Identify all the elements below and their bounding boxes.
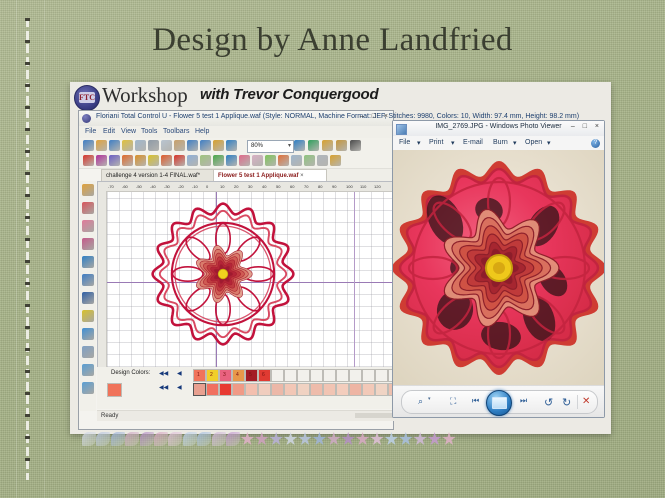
star-stitch-sample	[370, 432, 384, 446]
node-icon[interactable]	[213, 155, 224, 166]
undo-icon[interactable]	[187, 140, 198, 151]
chevron-down-icon[interactable]: ▾	[417, 139, 421, 147]
outline-color-icon[interactable]	[135, 155, 146, 166]
group-icon[interactable]	[304, 155, 315, 166]
swirl-stitch-sample	[183, 432, 197, 446]
realistic-view-icon[interactable]	[322, 140, 333, 151]
photo-viewer-title-bar: IMG_2769.JPG - Windows Photo Viewer – □ …	[393, 121, 604, 137]
ruler-tick: -40	[150, 184, 156, 189]
design-color-slot-empty[interactable]	[375, 369, 388, 382]
thread-color-swatch[interactable]	[375, 383, 388, 396]
menu-help[interactable]: Help	[195, 128, 209, 135]
swirl-stitch-sample	[111, 432, 125, 446]
swirl-stitch-sample	[96, 432, 110, 446]
swatch-index: 3	[223, 372, 226, 378]
lasso-tool[interactable]	[82, 238, 94, 250]
photo-image	[393, 150, 604, 386]
color-wheel-icon[interactable]	[308, 140, 319, 151]
ruler-tick: -50	[136, 184, 142, 189]
pencil-icon[interactable]	[148, 155, 159, 166]
stamp-tool[interactable]	[82, 364, 94, 376]
design-color-swatch[interactable]: 4	[232, 369, 245, 382]
image-tool[interactable]	[82, 328, 94, 340]
thread-color-swatch[interactable]	[297, 383, 310, 396]
ftcu-title-bar: Floriani Total Control U - Flower 5 test…	[79, 111, 393, 127]
swatch-index: 1	[197, 372, 200, 378]
ruler-tick: -20	[178, 184, 184, 189]
hand-pan-tool[interactable]	[82, 256, 94, 268]
help-icon[interactable]: ?	[591, 139, 600, 148]
swatch-index: 4	[236, 372, 239, 378]
ruler-tick: 120	[374, 184, 381, 189]
design-color-swatch[interactable]: 5	[245, 369, 258, 382]
color-prev-button[interactable]: ◀	[177, 370, 182, 377]
thread-color-swatch[interactable]	[349, 383, 362, 396]
stitch-sample-strip	[78, 430, 458, 448]
slideshow-glyph	[492, 397, 507, 409]
ftcu-app-icon	[82, 114, 91, 123]
menu-file[interactable]: File	[85, 128, 96, 135]
star-stitch-sample	[399, 432, 413, 446]
slide-background: Design by Anne Landfried FTC Workshop wi…	[0, 0, 665, 498]
ruler-tick: -60	[122, 184, 128, 189]
ftcu-toolbar-row-1: 80% ▾	[79, 138, 393, 154]
fill-color-icon[interactable]	[122, 155, 133, 166]
thread-color-swatch[interactable]	[193, 383, 206, 396]
swatch-index: 5	[249, 372, 252, 378]
tool-palette	[80, 181, 96, 411]
ruler-measure-tool[interactable]	[82, 274, 94, 286]
zoom-magnifier-button[interactable]: ⌕	[418, 396, 423, 407]
text-tool-icon[interactable]	[83, 155, 94, 166]
design-colors-panel: Design Colors: ◀◀ ◀ 123456 ◀◀ ◀	[97, 367, 393, 409]
zoom-level-value: 80%	[251, 143, 263, 149]
ftcu-window-buttons[interactable]: – □ ×	[360, 113, 391, 120]
ruler-tick: 90	[332, 184, 336, 189]
photo-viewer-window: IMG_2769.JPG - Windows Photo Viewer – □ …	[392, 120, 605, 418]
star-stitch-sample	[240, 432, 254, 446]
design-color-slot-empty[interactable]	[362, 369, 375, 382]
palette-prev-button[interactable]: ◀	[177, 384, 182, 391]
previous-image-button[interactable]: ⏮	[472, 396, 479, 406]
flower-design-vector[interactable]	[143, 194, 303, 354]
design-colors-label: Design Colors:	[111, 370, 150, 376]
horizontal-ruler: -70-60-50-40-30-20-100102030405060708090…	[98, 182, 394, 192]
screenshot-composite: FTC Workshop with Trevor Conquergood Flo…	[70, 82, 611, 434]
paste-icon[interactable]	[174, 140, 185, 151]
rotate-right-button[interactable]: ↻	[562, 396, 571, 409]
design-color-swatch[interactable]: 1	[193, 369, 206, 382]
fabric-seam-left	[16, 0, 17, 498]
star-stitch-sample	[269, 432, 283, 446]
chevron-down-icon[interactable]: ▾	[451, 139, 455, 147]
design-color-slot-empty[interactable]	[349, 369, 362, 382]
star-stitch-sample	[298, 432, 312, 446]
ftcu-window: Floriani Total Control U - Flower 5 test…	[78, 110, 394, 430]
swatch-index: 6	[262, 372, 265, 378]
ruler-tick: 70	[304, 184, 308, 189]
ruler-tick: 20	[234, 184, 238, 189]
workshop-label: Workshop	[102, 83, 188, 108]
star-stitch-sample	[428, 432, 442, 446]
cut-icon[interactable]	[148, 140, 159, 151]
swatch-index: 2	[210, 372, 213, 378]
redo-icon[interactable]	[200, 140, 211, 151]
fabric-seam-right	[44, 0, 45, 498]
wpv-menu-open[interactable]: Open	[525, 139, 542, 146]
star-stitch-sample	[341, 432, 355, 446]
flower-motif-icon[interactable]	[174, 155, 185, 166]
monogram-icon[interactable]	[96, 155, 107, 166]
duplicate-icon[interactable]	[291, 155, 302, 166]
design-color-slot-empty[interactable]	[310, 369, 323, 382]
stitch-knots	[25, 18, 30, 480]
swirl-stitch-sample	[197, 432, 211, 446]
tab-close-icon[interactable]: ×	[300, 173, 304, 179]
thread-color-swatch[interactable]	[310, 383, 323, 396]
star-stitch-sample	[442, 432, 456, 446]
divider	[577, 395, 578, 409]
tab-label: Flower 5 test 1 Applique.waf	[218, 173, 298, 179]
rotate-left-button[interactable]: ↺	[544, 396, 553, 409]
thread-color-swatch[interactable]	[336, 383, 349, 396]
status-scrollbar[interactable]	[355, 413, 395, 418]
swirl-stitch-sample	[168, 432, 182, 446]
play-slideshow-button[interactable]	[486, 390, 512, 416]
font-manager-icon[interactable]	[109, 155, 120, 166]
fit-to-window-button[interactable]: ⛶	[450, 396, 456, 407]
ruler-tick: -70	[108, 184, 114, 189]
thread-color-swatch[interactable]	[206, 383, 219, 396]
pencil-draw-tool[interactable]	[82, 310, 94, 322]
star-stitch-sample	[284, 432, 298, 446]
ruler-tick: 0	[206, 184, 208, 189]
document-tab-bar: challenge 4 version 1-4 FINAL.waf* Flowe…	[101, 169, 393, 181]
chevron-down-icon[interactable]: ▾	[547, 139, 551, 147]
thread-color-swatch[interactable]	[271, 383, 284, 396]
wpv-menu-print[interactable]: Print	[429, 139, 443, 146]
design-color-slot-empty[interactable]	[284, 369, 297, 382]
star-stitch-sample	[356, 432, 370, 446]
ruler-tick: -10	[192, 184, 198, 189]
ruler-tick: 40	[262, 184, 266, 189]
decorative-stitch-line	[26, 18, 29, 480]
photo-viewer-window-buttons[interactable]: – □ ×	[571, 123, 602, 130]
ruler-tick: 60	[290, 184, 294, 189]
swirl-stitch-sample	[140, 432, 154, 446]
wpv-menu-email[interactable]: E-mail	[463, 139, 483, 146]
save-icon[interactable]	[109, 140, 120, 151]
menu-view[interactable]: View	[121, 128, 136, 135]
embroidery-photo-svg	[393, 150, 604, 386]
presenter-label: with Trevor Conquergood	[200, 86, 378, 103]
chevron-down-icon[interactable]: ▾	[428, 396, 431, 402]
line-tool-icon[interactable]	[336, 140, 347, 151]
ruler-tick: 110	[360, 184, 366, 189]
hoop-tool[interactable]	[82, 292, 94, 304]
swirl-stitch-sample	[82, 432, 96, 446]
swirl-stitch-sample	[226, 432, 240, 446]
thread-color-swatch[interactable]	[323, 383, 336, 396]
save-as-icon[interactable]	[122, 140, 133, 151]
sum-icon[interactable]	[350, 140, 361, 151]
thread-color-swatch[interactable]	[245, 383, 258, 396]
settings-gear-icon[interactable]	[226, 140, 237, 151]
logo-text: FTC	[79, 92, 95, 103]
zoom-level-combobox[interactable]: 80% ▾	[247, 140, 294, 153]
swirl-stitch-sample	[125, 432, 139, 446]
print-icon[interactable]	[135, 140, 146, 151]
design-color-slot-empty[interactable]	[336, 369, 349, 382]
sparkle-icon[interactable]	[187, 155, 198, 166]
status-bar: Ready	[97, 410, 397, 421]
menu-tools[interactable]: Tools	[141, 128, 157, 135]
star-stitch-sample	[312, 432, 326, 446]
ftcu-menu-bar: File Edit View Tools Toolbars Help	[79, 126, 393, 138]
grid-icon[interactable]	[200, 155, 211, 166]
circle-tool-icon[interactable]	[317, 155, 328, 166]
delete-button[interactable]: ✕	[582, 396, 590, 407]
ruler-tick: 80	[318, 184, 322, 189]
ruler-tick: 30	[248, 184, 252, 189]
ftcu-toolbar-row-2	[79, 153, 393, 169]
workshop-banner: FTC Workshop with Trevor Conquergood	[70, 82, 390, 110]
photo-viewer-menu-bar: File ▾ Print ▾ E-mail Burn ▾ Open ▾ ?	[393, 136, 604, 151]
color-first-button[interactable]: ◀◀	[159, 370, 168, 377]
design-color-swatch[interactable]: 2	[206, 369, 219, 382]
node-edit-tool[interactable]	[82, 202, 94, 214]
next-image-button[interactable]: ⏭	[520, 396, 527, 406]
wpv-menu-file[interactable]: File	[399, 139, 410, 146]
active-color-chip[interactable]	[107, 383, 122, 397]
echo-icon[interactable]	[252, 155, 263, 166]
star-stitch-sample	[327, 432, 341, 446]
menu-toolbars[interactable]: Toolbars	[163, 128, 189, 135]
copy-icon[interactable]	[161, 140, 172, 151]
ftcu-title-text: Floriani Total Control U - Flower 5 test…	[96, 113, 579, 120]
status-text: Ready	[101, 413, 118, 419]
grid-tool[interactable]	[82, 346, 94, 358]
swirl-stitch-sample	[212, 432, 226, 446]
page-title: Design by Anne Landfried	[0, 22, 665, 59]
open-icon[interactable]	[96, 140, 107, 151]
color-circle-icon[interactable]	[226, 155, 237, 166]
photo-viewer-control-pill: ⌕ ▾ ⛶ ⏮ ⏭ ↺ ↻ ✕	[401, 390, 598, 414]
hoop-icon[interactable]	[213, 140, 224, 151]
design-color-swatch[interactable]: 3	[219, 369, 232, 382]
dropper-icon[interactable]	[161, 155, 172, 166]
vertical-ruler	[98, 191, 107, 367]
swirl-stitch-sample	[154, 432, 168, 446]
floriani-logo-icon: FTC	[74, 85, 100, 111]
thread-color-swatch[interactable]	[219, 383, 232, 396]
ruler-tick: 10	[220, 184, 224, 189]
thread-color-swatch[interactable]	[232, 383, 245, 396]
hoop-boundary-line	[354, 192, 355, 367]
palette-first-button[interactable]: ◀◀	[159, 384, 168, 391]
ruler-tick: 50	[276, 184, 280, 189]
photo-viewer-toolbar: ⌕ ▾ ⛶ ⏮ ⏭ ↺ ↻ ✕	[393, 385, 604, 417]
thread-color-swatch[interactable]	[284, 383, 297, 396]
design-color-slot-empty[interactable]	[271, 369, 284, 382]
ruler-tick: -30	[164, 184, 170, 189]
new-icon[interactable]	[83, 140, 94, 151]
applique-icon[interactable]	[239, 155, 250, 166]
thread-color-swatch[interactable]	[362, 383, 375, 396]
chevron-down-icon[interactable]: ▾	[288, 141, 291, 152]
menu-edit[interactable]: Edit	[103, 128, 115, 135]
select-arrow-tool[interactable]	[82, 184, 94, 196]
gradient-icon[interactable]	[265, 155, 276, 166]
design-canvas[interactable]: -70-60-50-40-30-20-100102030405060708090…	[97, 181, 395, 368]
chevron-down-icon[interactable]: ▾	[513, 139, 517, 147]
wpv-menu-burn[interactable]: Burn	[493, 139, 508, 146]
star-stitch-sample	[413, 432, 427, 446]
info-icon[interactable]	[294, 140, 305, 151]
design-color-slot-empty[interactable]	[323, 369, 336, 382]
star-stitch-sample	[384, 432, 398, 446]
ruler-tick: 100	[346, 184, 353, 189]
magic-wand-tool[interactable]	[82, 220, 94, 232]
copy-stamp-tool[interactable]	[82, 382, 94, 394]
design-color-slot-empty[interactable]	[297, 369, 310, 382]
star-stitch-sample	[255, 432, 269, 446]
thread-color-swatch[interactable]	[258, 383, 271, 396]
select-all-icon[interactable]	[278, 155, 289, 166]
more-tools-icon[interactable]	[330, 155, 341, 166]
design-color-swatch[interactable]: 6	[258, 369, 271, 382]
